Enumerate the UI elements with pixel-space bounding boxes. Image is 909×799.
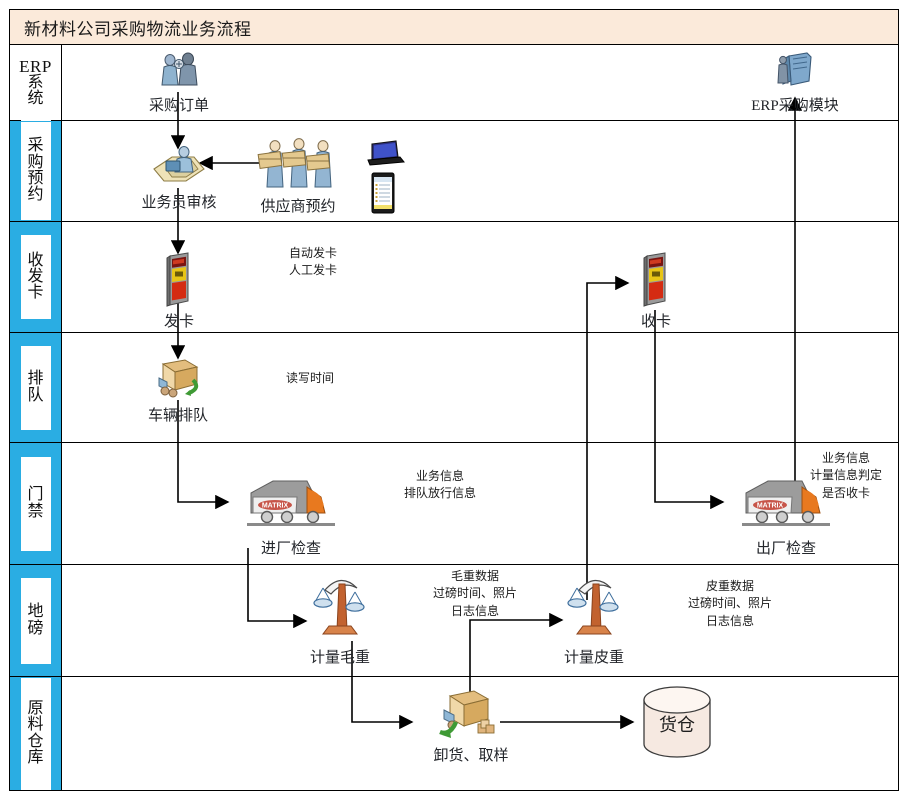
lane-label-warehouse-char-0: 原	[27, 701, 43, 717]
lane-label-booking-char-0: 采	[27, 138, 43, 154]
node-unload-sample[interactable]: 卸货、取样	[420, 688, 522, 765]
lane-label-scale: 地 磅	[10, 565, 62, 677]
annotation-tare-data: 皮重数据 过磅时间、照片 日志信息	[665, 578, 795, 630]
laptop-icon	[362, 140, 406, 168]
lane-label-gate-char-0: 门	[27, 487, 43, 503]
lane-label-erp-char-1: 系	[27, 75, 43, 91]
balance-scale-icon	[305, 572, 375, 644]
lane-label-queue-char-1: 队	[27, 388, 43, 404]
annotation-gross-data-line-2: 日志信息	[410, 603, 540, 620]
node-gross-weight[interactable]: 计量毛重	[302, 572, 378, 667]
two-people-icon	[156, 52, 202, 92]
person-at-desk-icon	[144, 143, 214, 189]
lane-label-booking: 采 购 预 约	[10, 121, 62, 222]
lane-label-warehouse: 原 料 仓 库	[10, 677, 62, 790]
truck-icon: MATRIX	[239, 473, 343, 535]
annotation-rw-time: 读写时间	[255, 370, 365, 387]
node-clerk-review-label: 业务员审核	[141, 191, 216, 212]
node-laptop[interactable]	[362, 140, 406, 168]
node-collect-card[interactable]: 收卡	[633, 252, 679, 331]
node-erp-module[interactable]: ERP采购模块	[755, 50, 835, 115]
lane-label-warehouse-char-3: 库	[27, 750, 43, 766]
node-mobile[interactable]	[368, 172, 398, 214]
lane-label-erp-char-2: 统	[27, 91, 43, 107]
mobile-phone-icon	[370, 172, 396, 214]
annotation-rw-time-line-0: 读写时间	[255, 370, 365, 387]
node-vehicle-queue-label: 车辆排队	[148, 404, 208, 425]
lane-label-scale-char-0: 地	[27, 604, 43, 620]
database-cylinder-icon: 货仓	[638, 686, 716, 758]
truck-box-icon	[149, 358, 207, 402]
lane-label-card-char-0: 收	[27, 253, 43, 269]
node-tare-weight-label: 计量皮重	[564, 646, 624, 667]
lane-label-queue-char-0: 排	[27, 371, 43, 387]
lane-label-booking-char-2: 预	[27, 171, 43, 187]
lane-label-erp-char-0: ERP	[19, 58, 52, 75]
node-tare-weight[interactable]: 计量皮重	[556, 572, 632, 667]
lane-label-gate: 门 禁	[10, 443, 62, 565]
balance-scale-icon	[559, 572, 629, 644]
lane-label-booking-char-1: 购	[27, 155, 43, 171]
annotation-tare-data-line-1: 过磅时间、照片	[665, 595, 795, 612]
annotation-entry-info-line-0: 业务信息	[380, 468, 500, 485]
annotation-card-modes: 自动发卡 人工发卡	[258, 245, 368, 280]
annotation-card-modes-line-0: 自动发卡	[258, 245, 368, 262]
node-unload-sample-label: 卸货、取样	[433, 744, 508, 765]
annotation-exit-info-line-2: 是否收卡	[790, 485, 902, 502]
flowchart-canvas: 新材料公司采购物流业务流程 ERP 系 统 采 购 预 约 收 发 卡 排 队	[0, 0, 909, 799]
node-entry-check[interactable]: MATRIX 进厂检查	[238, 473, 344, 558]
annotation-exit-info: 业务信息 计量信息判定 是否收卡	[790, 450, 902, 502]
node-erp-module-label: ERP采购模块	[751, 94, 839, 115]
node-issue-card-label: 发卡	[164, 310, 194, 331]
annotation-tare-data-line-2: 日志信息	[665, 613, 795, 630]
svg-text:MATRIX: MATRIX	[262, 503, 289, 510]
svg-text:MATRIX: MATRIX	[757, 503, 784, 510]
annotation-exit-info-line-0: 业务信息	[790, 450, 902, 467]
truck-box-icon	[434, 688, 508, 742]
node-purchase-order[interactable]: 采购订单	[148, 52, 210, 115]
node-entry-check-label: 进厂检查	[261, 537, 321, 558]
lane-label-card-char-1: 发	[27, 269, 43, 285]
lane-label-booking-char-3: 约	[27, 187, 43, 203]
annotation-card-modes-line-1: 人工发卡	[258, 262, 368, 279]
lane-label-queue: 排 队	[10, 333, 62, 443]
card-kiosk-icon	[164, 252, 194, 308]
lane-label-erp: ERP 系 统	[10, 45, 62, 121]
node-supplier-booking-label: 供应商预约	[260, 195, 335, 216]
node-vehicle-queue[interactable]: 车辆排队	[142, 358, 214, 425]
lane-label-card: 收 发 卡	[10, 222, 62, 333]
annotation-entry-info-line-1: 排队放行信息	[380, 485, 500, 502]
node-cargo-store-label: 货仓	[659, 715, 695, 735]
annotation-gross-data-line-1: 过磅时间、照片	[410, 585, 540, 602]
three-workers-icon	[255, 137, 341, 193]
node-cargo-store[interactable]: 货仓	[638, 686, 716, 758]
node-gross-weight-label: 计量毛重	[310, 646, 370, 667]
annotation-tare-data-line-0: 皮重数据	[665, 578, 795, 595]
annotation-gross-data-line-0: 毛重数据	[410, 568, 540, 585]
node-issue-card[interactable]: 发卡	[156, 252, 202, 331]
card-kiosk-icon	[641, 252, 671, 308]
node-collect-card-label: 收卡	[641, 310, 671, 331]
diagram-title-bar: 新材料公司采购物流业务流程	[10, 10, 898, 45]
node-purchase-order-label: 采购订单	[149, 94, 209, 115]
node-exit-check-label: 出厂检查	[756, 537, 816, 558]
lane-label-gate-char-1: 禁	[27, 504, 43, 520]
lane-label-warehouse-char-1: 料	[27, 717, 43, 733]
erp-server-icon	[775, 50, 815, 92]
lane-label-scale-char-1: 磅	[27, 621, 43, 637]
page-title: 新材料公司采购物流业务流程	[10, 15, 252, 40]
node-clerk-review[interactable]: 业务员审核	[140, 143, 218, 212]
lane-label-card-char-2: 卡	[27, 285, 43, 301]
annotation-entry-info: 业务信息 排队放行信息	[380, 468, 500, 503]
lane-label-warehouse-char-2: 仓	[27, 734, 43, 750]
node-supplier-booking[interactable]: 供应商预约	[254, 137, 342, 216]
annotation-gross-data: 毛重数据 过磅时间、照片 日志信息	[410, 568, 540, 620]
annotation-exit-info-line-1: 计量信息判定	[790, 467, 902, 484]
